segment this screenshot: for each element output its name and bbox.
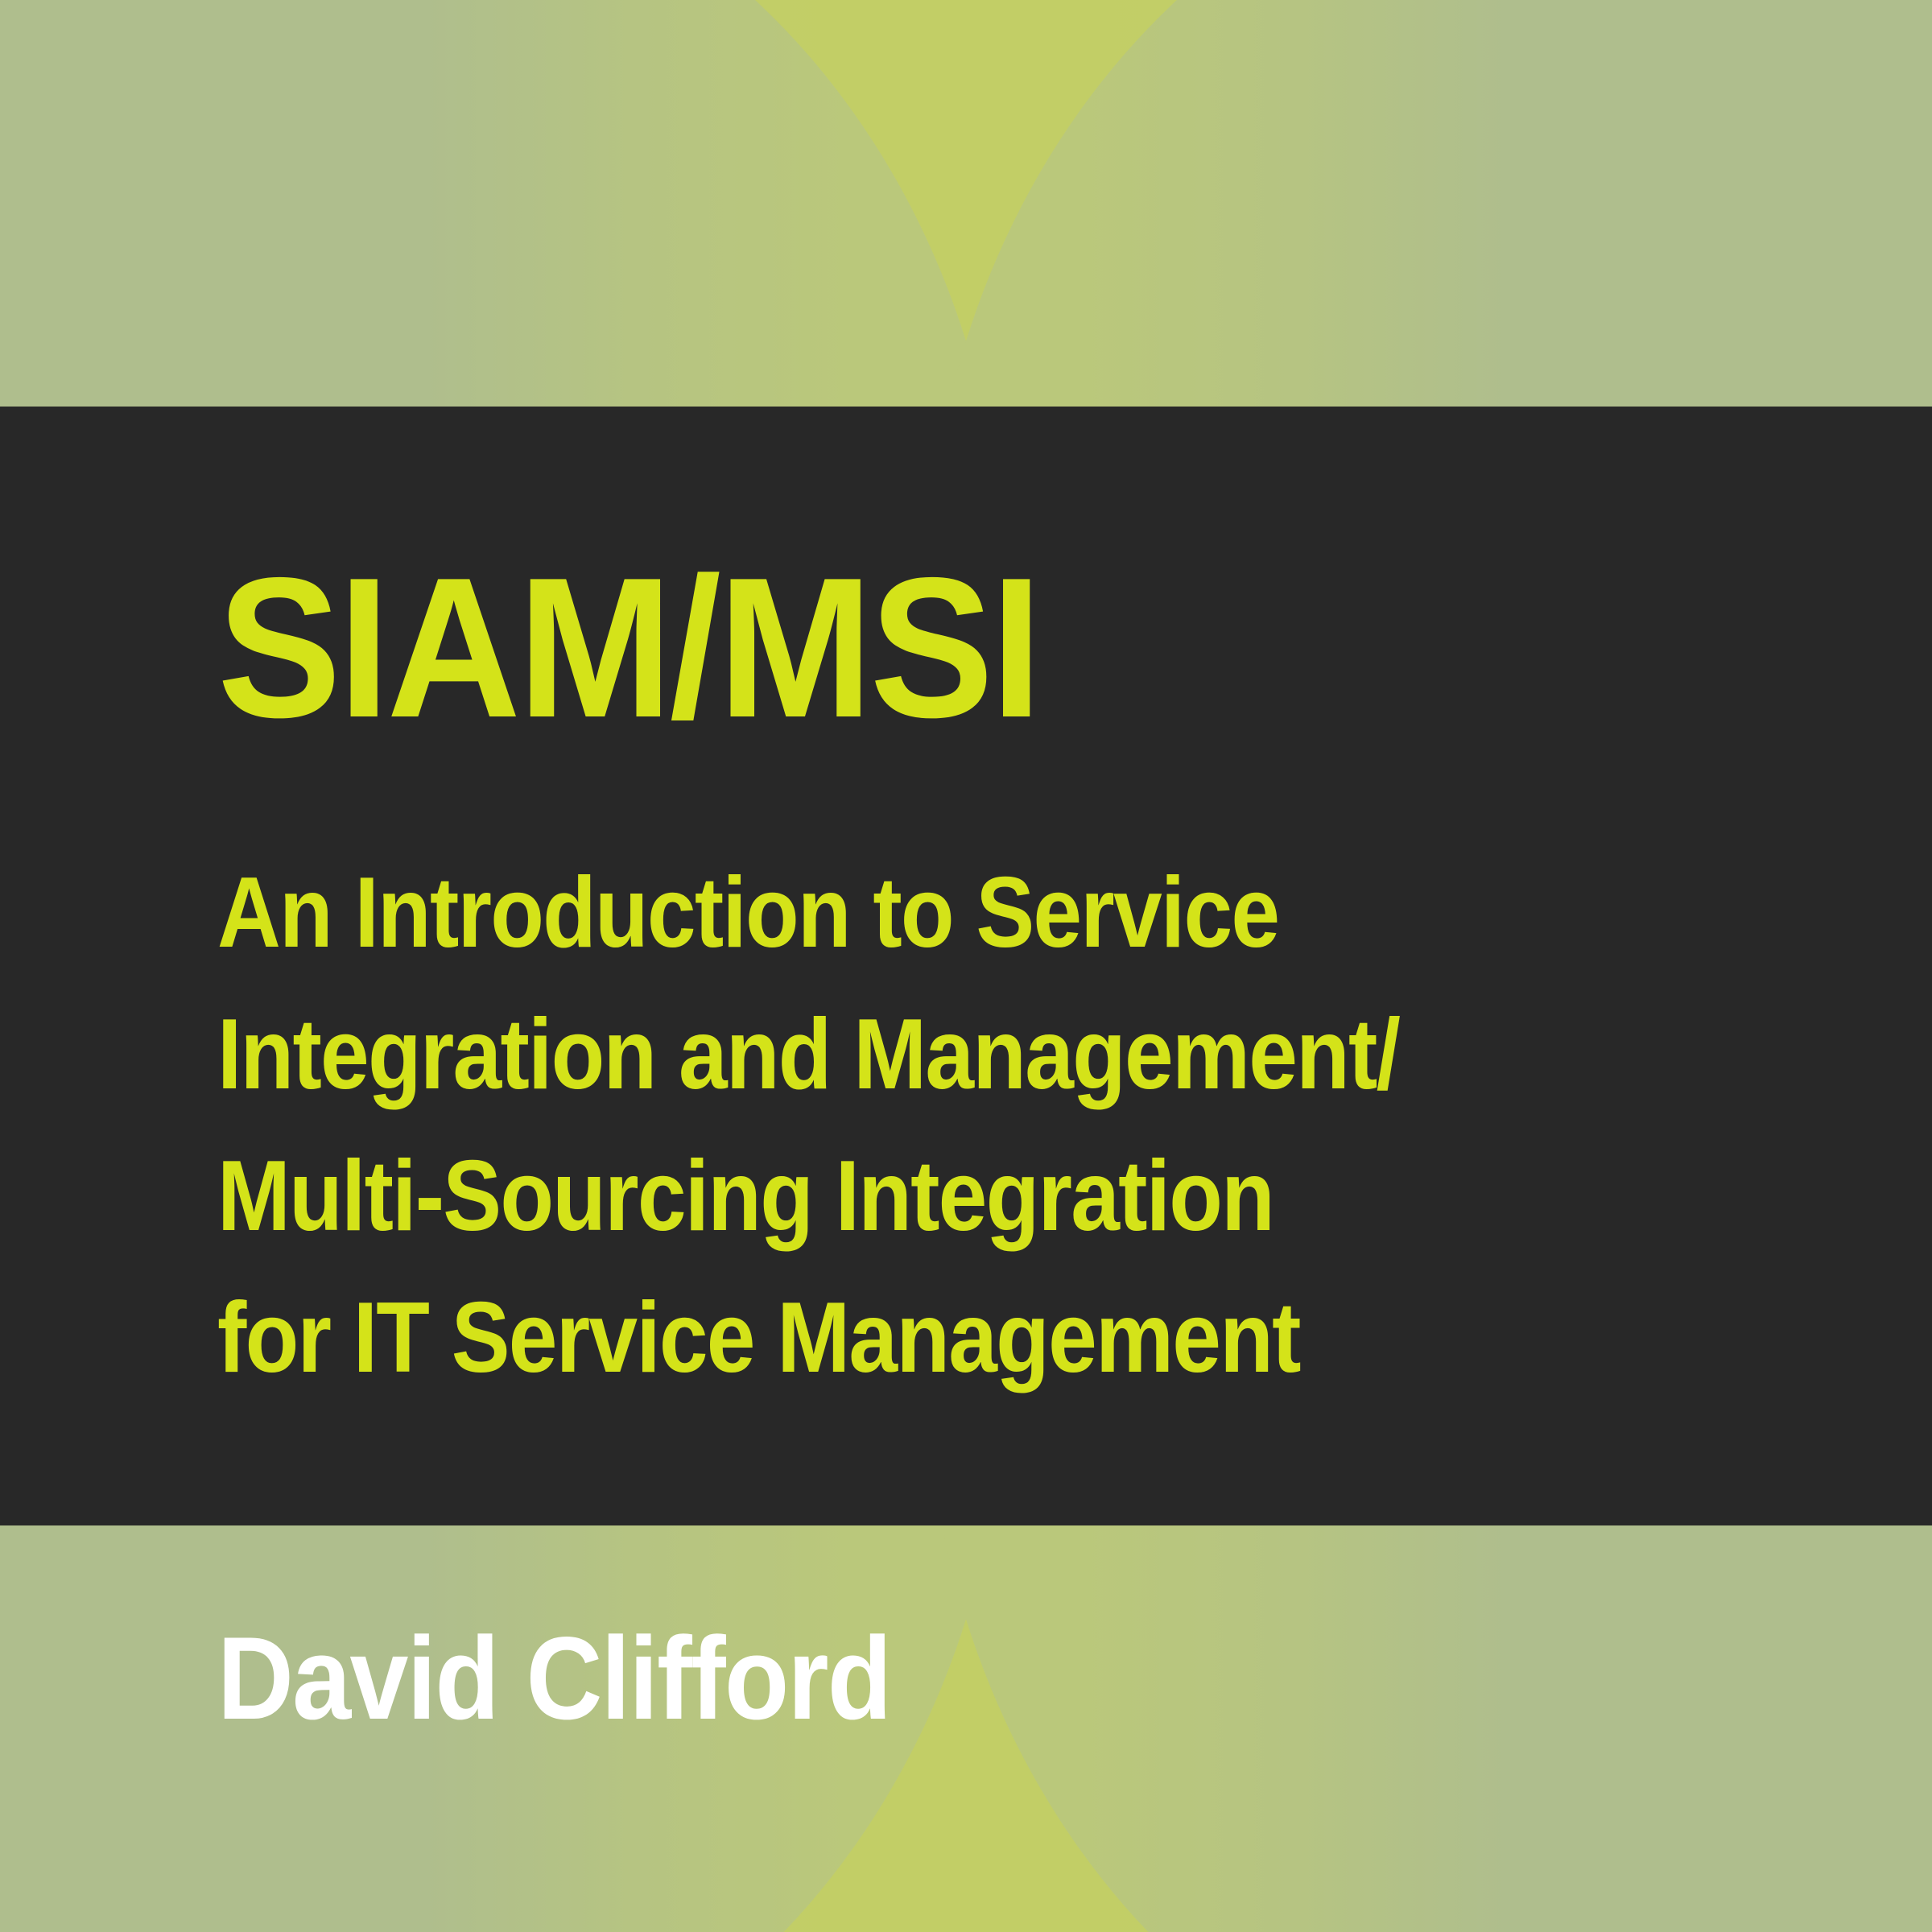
subtitle-line-1: An Introduction to Service: [217, 842, 1399, 984]
subtitle-line-3: Multi-Sourcing Integration: [217, 1125, 1399, 1267]
book-title: SIAM/MSI: [217, 547, 1039, 747]
book-cover: SIAM/MSI An Introduction to Service Inte…: [0, 0, 1932, 1932]
subtitle-line-2: Integration and Management/: [217, 984, 1399, 1125]
subtitle-line-4: for IT Service Management: [217, 1267, 1399, 1409]
book-subtitle: An Introduction to Service Integration a…: [217, 842, 1399, 1409]
author-name: David Clifford: [217, 1620, 890, 1737]
